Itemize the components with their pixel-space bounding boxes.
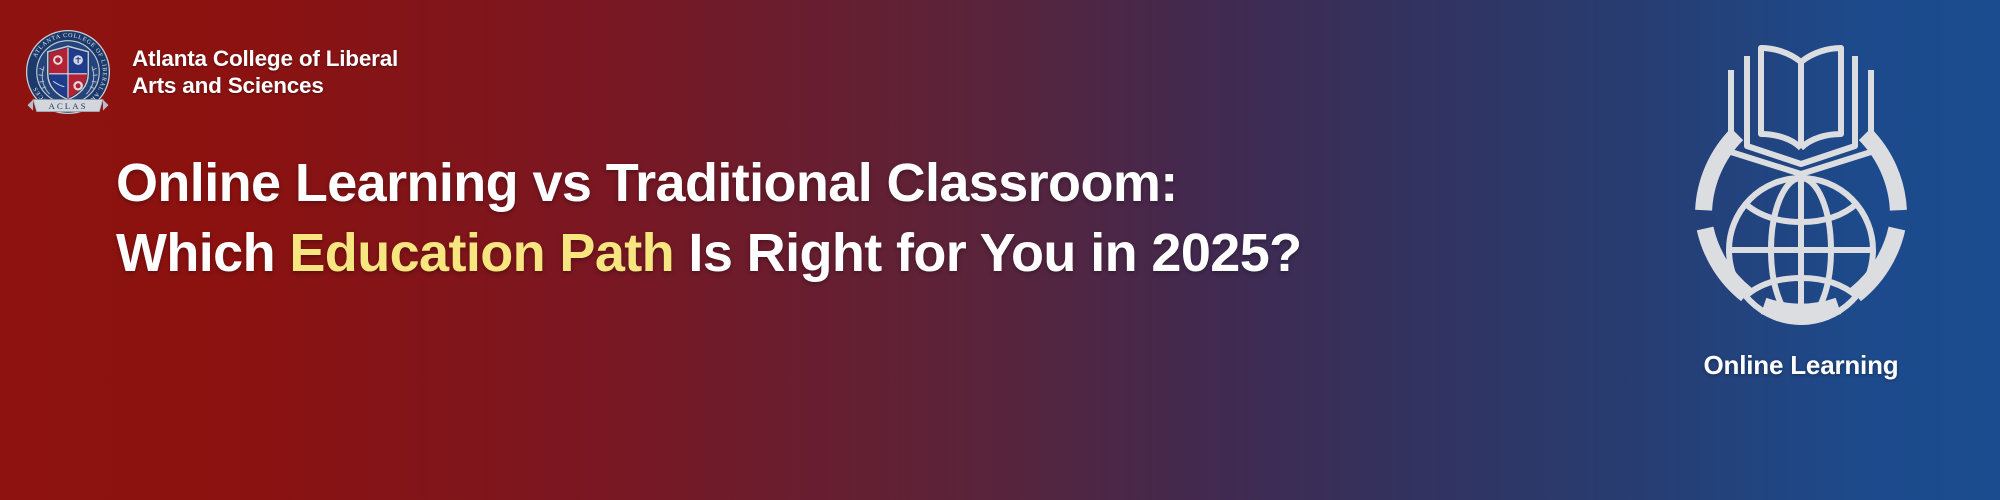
promo-banner: ATLANTA COLLEGE OF LIBERAL ARTS AND SCIE… xyxy=(0,0,2000,500)
badge-caption: Online Learning xyxy=(1704,350,1899,381)
svg-text:ACLAS: ACLAS xyxy=(48,101,87,111)
headline-line-2: Which Education Path Is Right for You in… xyxy=(116,218,1366,288)
brand-lockup[interactable]: ATLANTA COLLEGE OF LIBERAL ARTS AND SCIE… xyxy=(22,26,398,118)
headline-line-1: Online Learning vs Traditional Classroom… xyxy=(116,148,1366,218)
headline: Online Learning vs Traditional Classroom… xyxy=(116,148,1366,288)
headline-line-2-before: Which xyxy=(116,223,289,283)
college-name: Atlanta College of Liberal Arts and Scie… xyxy=(132,45,398,100)
online-learning-icon xyxy=(1651,22,1951,342)
headline-accent: Education Path xyxy=(289,223,674,283)
online-learning-badge: Online Learning xyxy=(1636,22,1966,422)
college-seal-icon: ATLANTA COLLEGE OF LIBERAL ARTS AND SCIE… xyxy=(22,26,114,118)
headline-line-2-after: Is Right for You in 2025? xyxy=(674,223,1302,283)
